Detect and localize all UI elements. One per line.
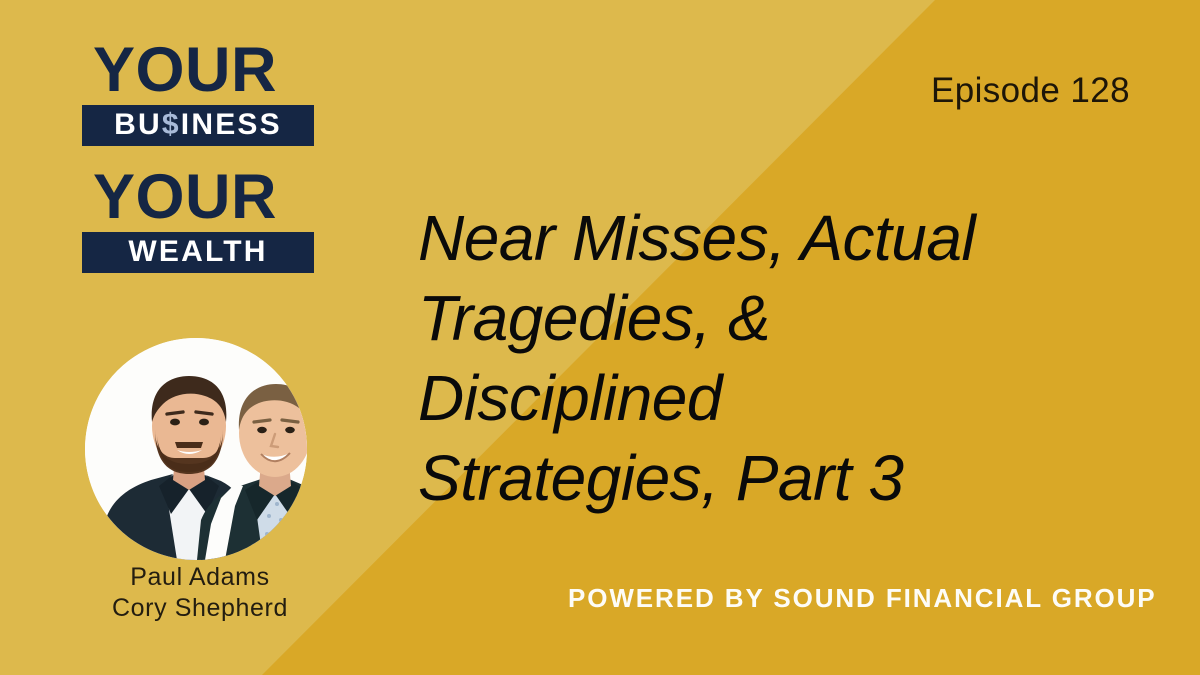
episode-title: Near Misses, Actual Tragedies, & Discipl… xyxy=(418,198,1138,518)
logo-word-your-bottom: YOUR xyxy=(82,169,314,227)
host-name-primary: Paul Adams xyxy=(0,562,400,593)
podcast-episode-card: YOUR BU$INESS YOUR WEALTH xyxy=(0,0,1200,675)
logo-word-your-top: YOUR xyxy=(82,42,314,100)
episode-title-line-2: Tragedies, & xyxy=(418,278,1138,358)
logo-bar-business: BU$INESS xyxy=(82,105,314,146)
episode-title-line-4: Strategies, Part 3 xyxy=(418,438,1138,518)
host-names: Paul Adams Cory Shepherd xyxy=(0,562,400,623)
hosts-headshot-illustration xyxy=(85,338,307,560)
host-name-secondary: Cory Shepherd xyxy=(0,593,400,624)
hosts-photo-avatar xyxy=(85,338,307,560)
powered-by-tagline: POWERED BY SOUND FINANCIAL GROUP xyxy=(568,583,1157,614)
show-logo: YOUR BU$INESS YOUR WEALTH xyxy=(82,42,314,273)
logo-bar-business-label: BU$INESS xyxy=(114,108,282,142)
logo-bar-wealth-label: WEALTH xyxy=(128,235,267,269)
dollar-sign-icon: $ xyxy=(162,108,181,141)
episode-title-line-1: Near Misses, Actual xyxy=(418,198,1138,278)
logo-bar-wealth: WEALTH xyxy=(82,232,314,273)
episode-title-line-3: Disciplined xyxy=(418,358,1138,438)
episode-number-label: Episode 128 xyxy=(931,71,1130,111)
